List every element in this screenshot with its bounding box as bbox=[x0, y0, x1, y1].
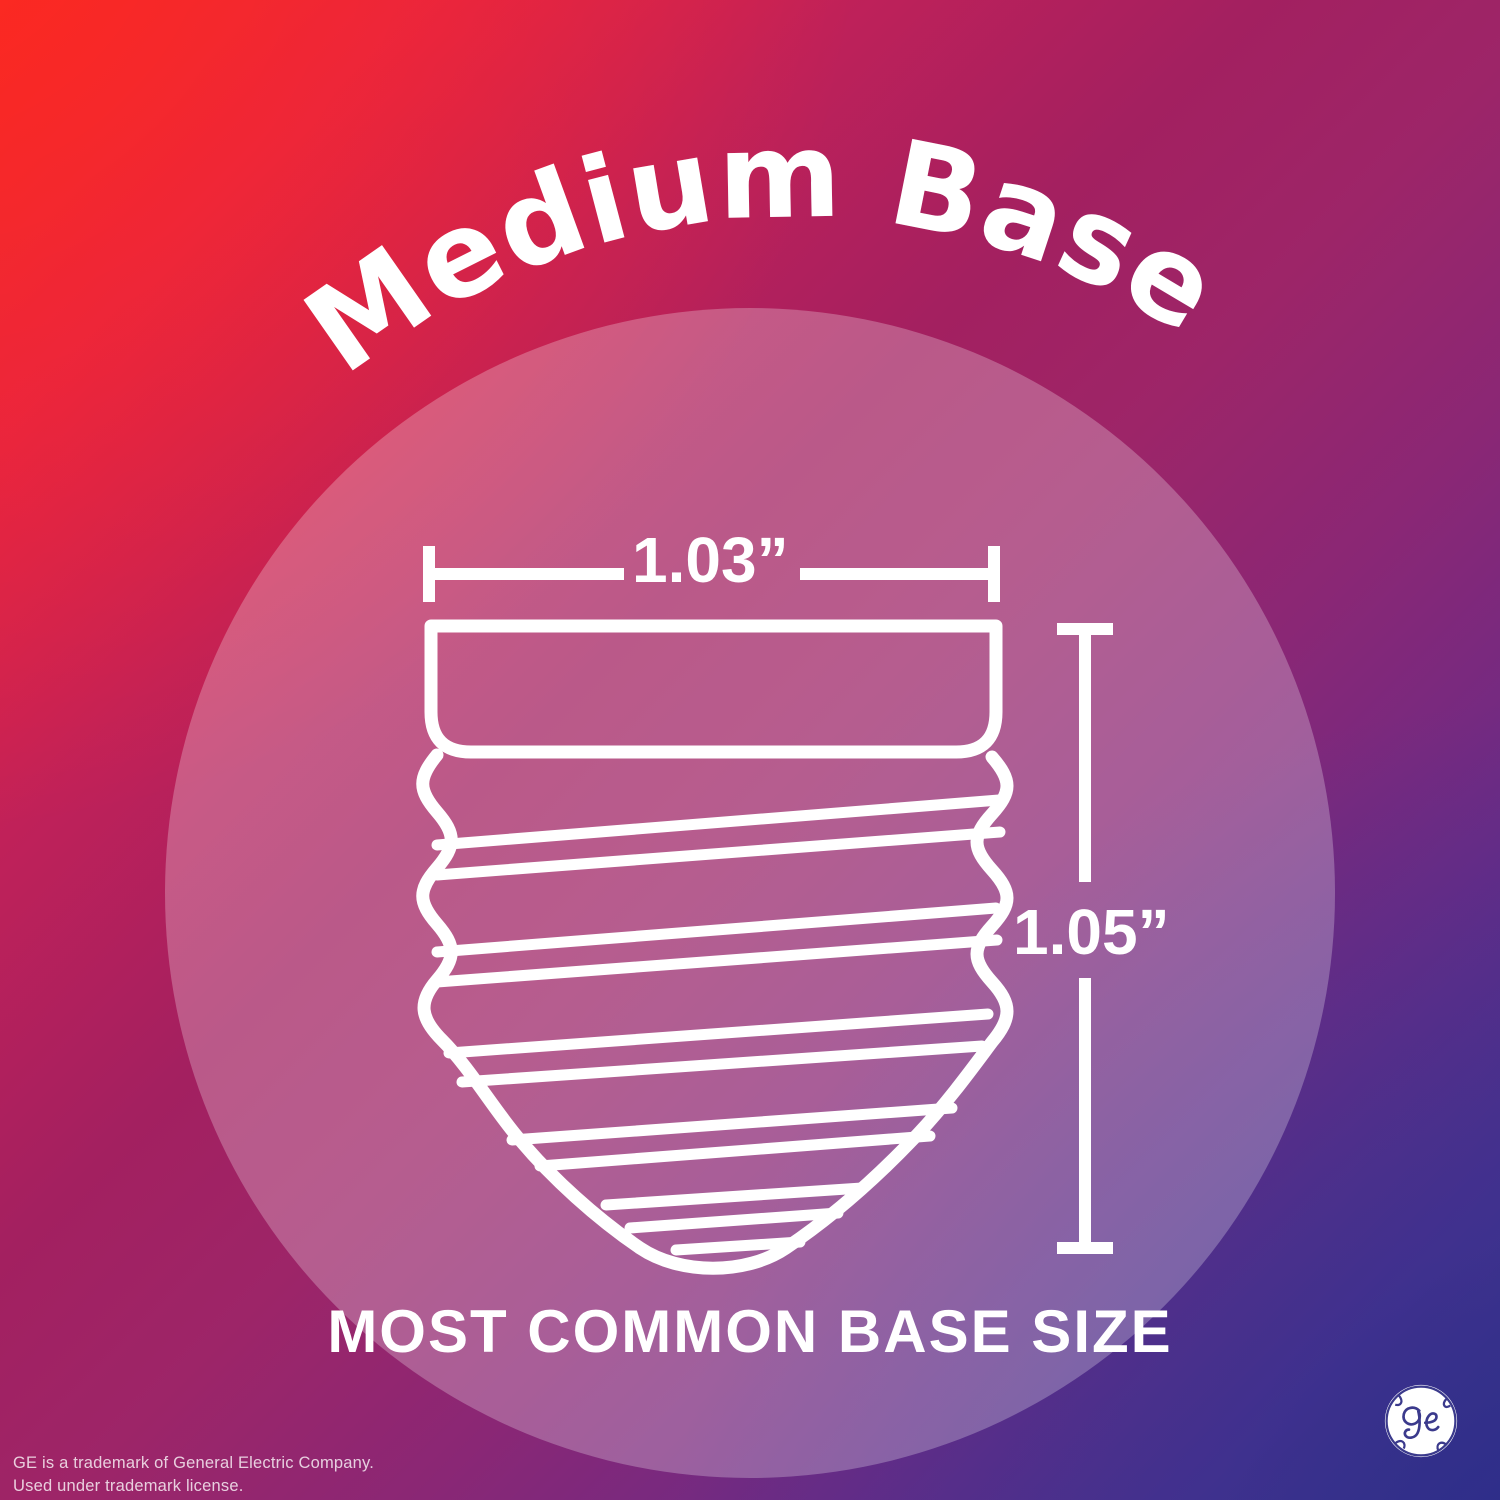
logo-circle bbox=[1385, 1385, 1457, 1457]
thread-line-8 bbox=[540, 1136, 930, 1166]
tip-band-1 bbox=[606, 1188, 862, 1205]
illustration-svg bbox=[0, 0, 1500, 1500]
poster-canvas: Medium Base bbox=[0, 0, 1500, 1500]
ge-monogram-logo bbox=[1378, 1378, 1464, 1464]
trademark-line-1: GE is a trademark of General Electric Co… bbox=[13, 1452, 374, 1475]
width-dimension-label: 1.03” bbox=[632, 528, 789, 592]
trademark-notice: GE is a trademark of General Electric Co… bbox=[13, 1452, 374, 1499]
caption-most-common-base-size: MOST COMMON BASE SIZE bbox=[0, 1297, 1500, 1366]
trademark-line-2: Used under trademark license. bbox=[13, 1475, 374, 1498]
base-collar-band bbox=[431, 626, 996, 752]
medium-screw-base-outline bbox=[423, 626, 1007, 1268]
base-thread-body-outline bbox=[423, 755, 1007, 1268]
height-dimension-label: 1.05” bbox=[1013, 900, 1170, 964]
